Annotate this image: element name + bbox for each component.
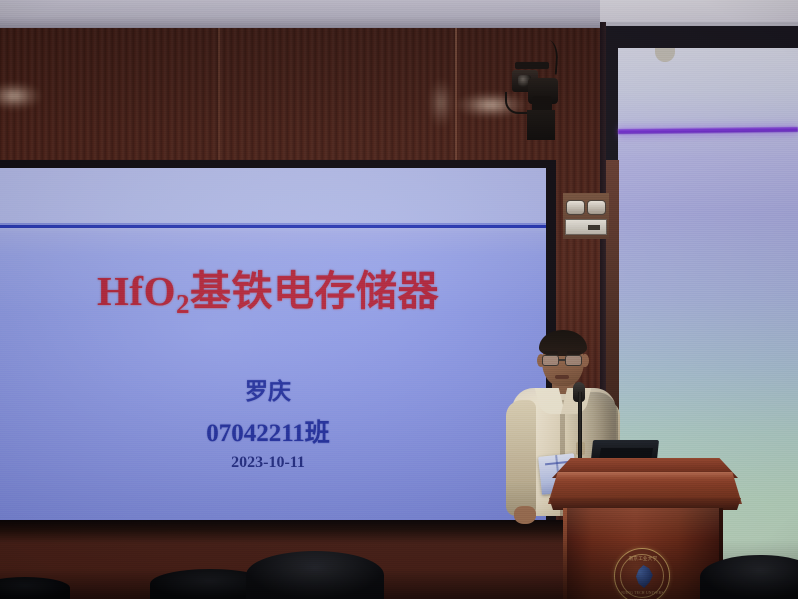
presenter-ear-right	[581, 354, 589, 367]
presenter-mouth	[555, 375, 569, 379]
presenter-eyebrow-left	[544, 351, 558, 354]
microphone-stem	[578, 392, 582, 464]
lecture-hall-photo: HfO2基铁电存储器 罗庆 07042211班 2023-10-11	[0, 0, 798, 599]
presenter-eyebrow-right	[567, 351, 581, 354]
foreground-shadow	[0, 539, 798, 599]
camera-wall-mount	[527, 110, 555, 140]
camera-top-bracket	[515, 62, 549, 69]
glasses-bridge	[558, 359, 566, 361]
wall-reflection	[428, 78, 454, 128]
emergency-light-lamp-right	[587, 200, 606, 215]
presenter-hand	[514, 506, 536, 524]
glasses-icon	[542, 355, 559, 366]
emergency-light-lamp-left	[566, 200, 585, 215]
screen-vignette	[0, 168, 546, 530]
projection-screen: HfO2基铁电存储器 罗庆 07042211班 2023-10-11	[0, 168, 546, 530]
glasses-icon	[565, 355, 582, 366]
emergency-light-body	[565, 219, 607, 235]
